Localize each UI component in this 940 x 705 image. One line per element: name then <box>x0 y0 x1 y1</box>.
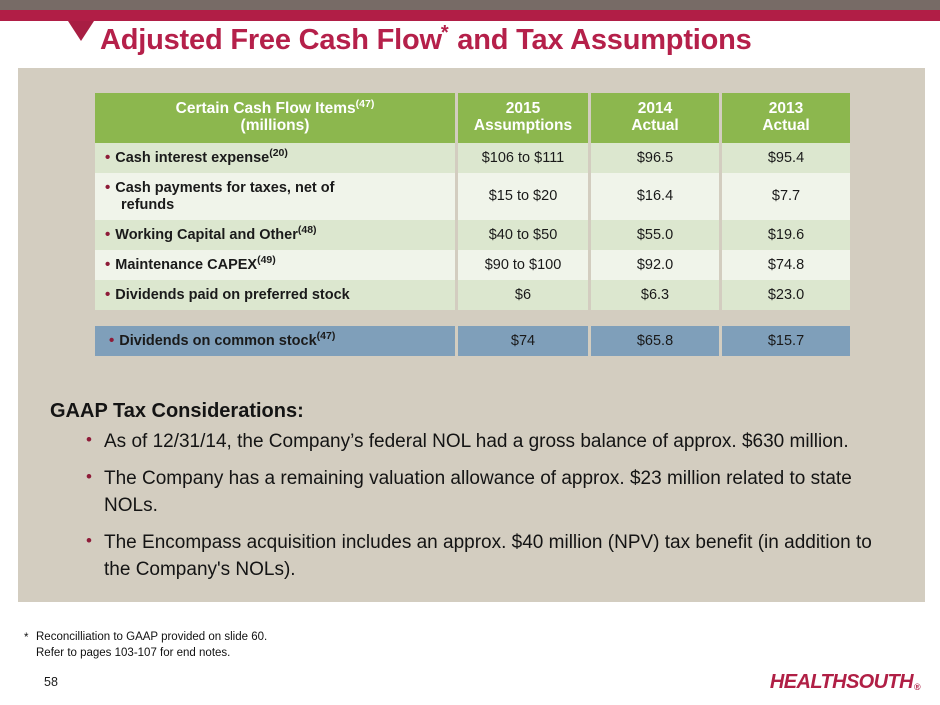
cell-2013: $7.7 <box>722 173 850 220</box>
brand-name: HEALTHSOUTH <box>770 671 913 693</box>
table-spacer-row <box>95 310 850 326</box>
list-item: • The Company has a remaining valuation … <box>86 465 886 520</box>
footnote: * Reconcilliation to GAAP provided on sl… <box>24 630 267 661</box>
table-row: •Cash interest expense(20) $106 to $111 … <box>95 143 850 173</box>
cell-2014: $6.3 <box>591 280 719 310</box>
row-label-cash-payments-taxes: •Cash payments for taxes, net ofrefunds <box>95 173 455 220</box>
bullet-icon: • <box>86 529 92 554</box>
table-row: •Dividends paid on preferred stock $6 $6… <box>95 280 850 310</box>
footnote-line-2: Refer to pages 103-107 for end notes. <box>36 646 267 662</box>
cell-2014: $96.5 <box>591 143 719 173</box>
cell-2015: $15 to $20 <box>458 173 588 220</box>
column-header-2014: 2014 Actual <box>591 93 719 143</box>
footnote-asterisk: * <box>24 631 28 647</box>
table-header-row: Certain Cash Flow Items(47) (millions) 2… <box>95 93 850 143</box>
cell-2013: $15.7 <box>722 326 850 356</box>
cell-2015: $74 <box>458 326 588 356</box>
row-label-sup: (47) <box>317 331 336 343</box>
cell-2013: $95.4 <box>722 143 850 173</box>
table-row: •Maintenance CAPEX(49) $90 to $100 $92.0… <box>95 250 850 280</box>
registered-mark-icon: ® <box>914 682 920 692</box>
list-item-text: The Encompass acquisition includes an ap… <box>104 532 872 581</box>
cell-2014: $55.0 <box>591 220 719 250</box>
cell-2015: $106 to $111 <box>458 143 588 173</box>
top-crimson-bar <box>0 10 940 21</box>
column-header-2014-line2: Actual <box>631 117 678 134</box>
list-item-text: As of 12/31/14, the Company’s federal NO… <box>104 431 849 452</box>
bullet-icon: • <box>105 149 110 166</box>
page-title-asterisk: * <box>441 22 449 44</box>
row-label-text: Cash payments for taxes, net of <box>115 180 334 196</box>
page-title: Adjusted Free Cash Flow* and Tax Assumpt… <box>100 22 752 57</box>
cell-2013: $74.8 <box>722 250 850 280</box>
table-row: •Working Capital and Other(48) $40 to $5… <box>95 220 850 250</box>
spacer-cell <box>722 310 850 326</box>
column-header-item-line1: Certain Cash Flow Items <box>176 100 356 117</box>
row-label-text: Dividends paid on preferred stock <box>115 287 349 303</box>
cell-2014: $92.0 <box>591 250 719 280</box>
row-label-working-capital: •Working Capital and Other(48) <box>95 220 455 250</box>
cell-2013: $23.0 <box>722 280 850 310</box>
list-item-text: The Company has a remaining valuation al… <box>104 468 852 517</box>
list-item: • As of 12/31/14, the Company’s federal … <box>86 428 886 456</box>
column-header-item: Certain Cash Flow Items(47) (millions) <box>95 93 455 143</box>
bullet-icon: • <box>86 465 92 490</box>
gaap-heading: GAAP Tax Considerations: <box>50 400 304 423</box>
cell-2015: $6 <box>458 280 588 310</box>
slide-number: 58 <box>44 675 58 689</box>
top-gray-bar <box>0 0 940 10</box>
row-label-text: Maintenance CAPEX <box>115 257 257 273</box>
row-label-text: Working Capital and Other <box>115 227 298 243</box>
triangle-pointer-icon <box>68 21 94 41</box>
row-label-dividends-preferred: •Dividends paid on preferred stock <box>95 280 455 310</box>
gaap-list: • As of 12/31/14, the Company’s federal … <box>86 428 886 593</box>
cell-2014: $16.4 <box>591 173 719 220</box>
column-header-2013-line1: 2013 <box>769 100 803 117</box>
row-label-sup: (49) <box>257 254 276 266</box>
table-row: •Cash payments for taxes, net ofrefunds … <box>95 173 850 220</box>
cell-2014: $65.8 <box>591 326 719 356</box>
healthsouth-logo: HEALTHSOUTH® <box>770 671 920 694</box>
bullet-icon: • <box>86 428 92 453</box>
row-label-text-line2: refunds <box>105 197 174 214</box>
spacer-cell <box>591 310 719 326</box>
bullet-icon: • <box>109 332 114 349</box>
row-label-maintenance-capex: •Maintenance CAPEX(49) <box>95 250 455 280</box>
column-header-2013-line2: Actual <box>762 117 809 134</box>
column-header-2015-line2: Assumptions <box>474 117 572 134</box>
bullet-icon: • <box>105 286 110 303</box>
cell-2013: $19.6 <box>722 220 850 250</box>
column-header-2014-line1: 2014 <box>638 100 672 117</box>
bullet-icon: • <box>105 256 110 273</box>
row-label-text: Cash interest expense <box>115 150 269 166</box>
cell-2015: $40 to $50 <box>458 220 588 250</box>
row-label-sup: (20) <box>269 147 288 159</box>
row-label-sup: (48) <box>298 224 317 236</box>
cell-2015: $90 to $100 <box>458 250 588 280</box>
list-item: • The Encompass acquisition includes an … <box>86 529 886 584</box>
column-header-item-sup: (47) <box>356 98 375 110</box>
column-header-2013: 2013 Actual <box>722 93 850 143</box>
spacer-cell <box>95 310 455 326</box>
row-label-cash-interest-expense: •Cash interest expense(20) <box>95 143 455 173</box>
spacer-cell <box>458 310 588 326</box>
cash-flow-table: Certain Cash Flow Items(47) (millions) 2… <box>92 93 853 356</box>
row-label-dividends-common: •Dividends on common stock(47) <box>95 326 455 356</box>
footnote-line-1: Reconcilliation to GAAP provided on slid… <box>36 630 267 646</box>
column-header-2015-line1: 2015 <box>506 100 540 117</box>
table-row-highlighted: •Dividends on common stock(47) $74 $65.8… <box>95 326 850 356</box>
column-header-2015: 2015 Assumptions <box>458 93 588 143</box>
bullet-icon: • <box>105 226 110 243</box>
page-title-rest: and Tax Assumptions <box>449 24 751 56</box>
column-header-item-line2: (millions) <box>241 117 310 134</box>
page-title-main: Adjusted Free Cash Flow <box>100 24 442 56</box>
bullet-icon: • <box>105 179 110 196</box>
row-label-text: Dividends on common stock <box>119 333 316 349</box>
